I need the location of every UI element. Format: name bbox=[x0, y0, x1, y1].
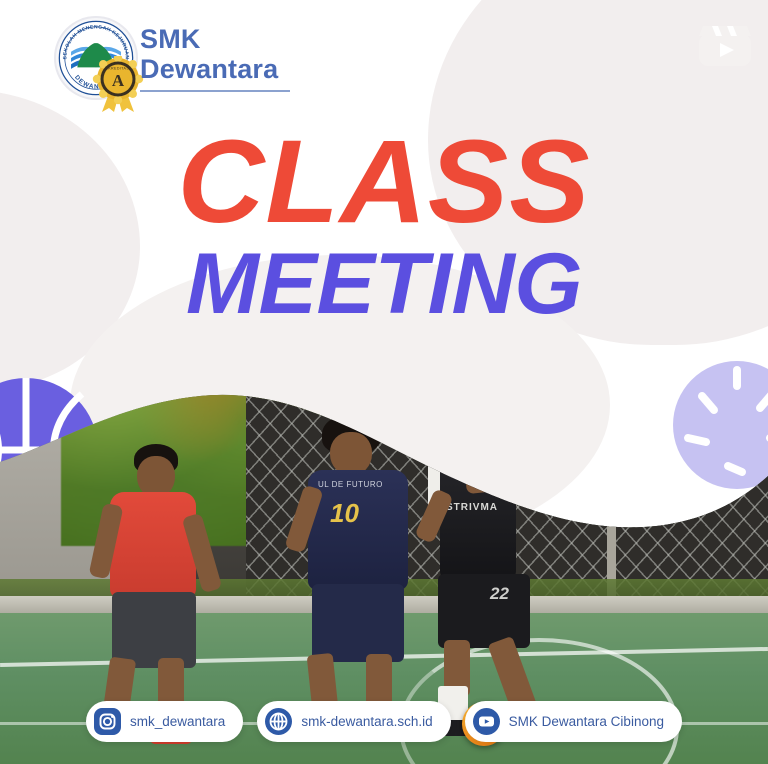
clapperboard-icon bbox=[697, 14, 753, 68]
contact-website[interactable]: smk-dewantara.sch.id bbox=[257, 701, 450, 742]
contact-youtube[interactable]: SMK Dewantara Cibinong bbox=[465, 701, 682, 742]
title-block: CLASS MEETING bbox=[0, 130, 768, 332]
school-logo: SEKOLAH MENENGAH KEJURUAN DEWANTARA bbox=[48, 14, 144, 110]
player-black-chest-text: STRIVMA bbox=[446, 502, 498, 513]
title-class: CLASS bbox=[0, 130, 768, 234]
title-meeting: MEETING bbox=[0, 236, 768, 332]
brand-line-1: SMK bbox=[140, 24, 290, 54]
globe-icon bbox=[265, 708, 292, 735]
player-navy-number: 10 bbox=[330, 498, 359, 529]
instagram-icon bbox=[94, 708, 121, 735]
brand-underline bbox=[140, 90, 290, 92]
brand-line-2: Dewantara bbox=[140, 54, 290, 84]
brand-name: SMK Dewantara bbox=[140, 24, 290, 92]
player-red bbox=[96, 444, 226, 734]
svg-text:AKREDITASI: AKREDITASI bbox=[105, 67, 130, 71]
volleyball-icon bbox=[672, 360, 768, 490]
contact-website-label: smk-dewantara.sch.id bbox=[301, 714, 432, 729]
contact-bar: smk_dewantara smk-dewantara.sch.id SMK D bbox=[0, 701, 768, 742]
contact-instagram[interactable]: smk_dewantara bbox=[86, 701, 243, 742]
player-black-number: 22 bbox=[490, 584, 509, 604]
player-navy: UL DE FUTURO 10 bbox=[296, 414, 426, 734]
contact-youtube-label: SMK Dewantara Cibinong bbox=[509, 714, 664, 729]
contact-instagram-label: smk_dewantara bbox=[130, 714, 225, 729]
poster: SEKOLAH MENENGAH KEJURUAN DEWANTARA bbox=[0, 0, 768, 764]
accreditation-badge-icon: A AKREDITASI bbox=[92, 56, 144, 112]
player-navy-chest-text: UL DE FUTURO bbox=[318, 480, 383, 489]
svg-text:A: A bbox=[112, 71, 125, 90]
header: SEKOLAH MENENGAH KEJURUAN DEWANTARA bbox=[0, 0, 768, 120]
youtube-icon bbox=[473, 708, 500, 735]
